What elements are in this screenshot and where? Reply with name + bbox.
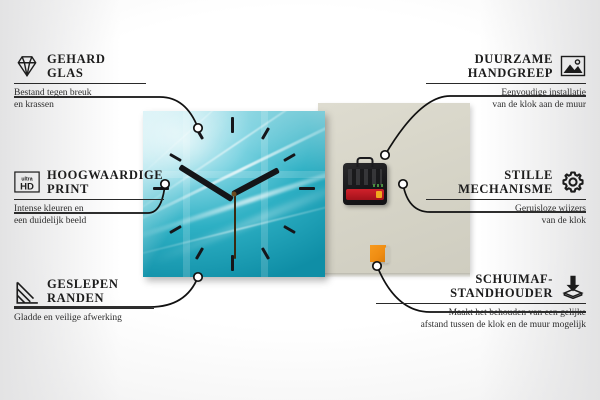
picture-frame-icon (560, 53, 586, 79)
callout-subtitle-line1: Bestand tegen breuk (14, 88, 146, 100)
clock-center-pin (232, 192, 237, 197)
callout-header: GEHARD GLAS (14, 52, 146, 80)
callout-header: STILLE MECHANISME (426, 168, 586, 196)
callout-divider (376, 303, 586, 304)
callout-schuimafstandhouder: SCHUIMAF- STANDHOUDER Maakt het behouden… (376, 272, 586, 331)
callout-header: ultra HD HOOGWAARDIGE PRINT (14, 168, 164, 196)
callout-title: GEHARD GLAS (47, 52, 105, 80)
callout-divider (426, 199, 586, 200)
callout-title: HOOGWAARDIGE PRINT (47, 168, 163, 196)
callout-subtitle-line2: een duidelijk beeld (14, 216, 164, 228)
callout-subtitle-line2: en krassen (14, 100, 146, 112)
callout-subtitle-line1: Eenvoudige installatie (426, 88, 586, 100)
battery (346, 189, 384, 200)
callout-divider (14, 83, 146, 84)
callout-title: GESLEPEN RANDEN (47, 277, 119, 305)
callout-title: STILLE MECHANISME (458, 168, 553, 196)
press-down-arrow-icon (560, 273, 586, 299)
mechanism-housing (348, 169, 382, 185)
callout-hoogwaardige-print: ultra HD HOOGWAARDIGE PRINT Intense kleu… (14, 168, 164, 227)
callout-divider (426, 83, 586, 84)
callout-geslepen-randen: GESLEPEN RANDEN Gladde en veilige afwerk… (14, 277, 154, 325)
callout-subtitle-line2: van de klok (426, 216, 586, 228)
foam-spacer-pad (370, 245, 386, 262)
clock-mechanism (343, 163, 387, 205)
glass-seam (143, 171, 325, 178)
callout-header: GESLEPEN RANDEN (14, 277, 154, 305)
callout-subtitle-line2: van de klok aan de muur (426, 100, 586, 112)
callout-subtitle-line1: Maakt het behouden van een gelijke (376, 308, 586, 320)
mechanism-marking (373, 184, 383, 187)
callout-header: DUURZAME HANDGREEP (426, 52, 586, 80)
infographic-canvas: GEHARD GLAS Bestand tegen breuk en krass… (0, 0, 600, 400)
gear-icon (560, 169, 586, 195)
callout-divider (14, 199, 164, 200)
clock-second-hand (234, 195, 236, 259)
clock-tick (231, 117, 234, 133)
diamond-icon (14, 53, 40, 79)
callout-subtitle-line2: afstand tussen de klok en de muur mogeli… (376, 320, 586, 332)
diagonal-lines-icon (14, 278, 40, 304)
glass-seam (183, 111, 190, 277)
callout-subtitle-line1: Gladde en veilige afwerking (14, 313, 154, 325)
callout-duurzame-handgreep: DUURZAME HANDGREEP Eenvoudige installati… (426, 52, 586, 111)
callout-divider (14, 308, 154, 309)
ultra-hd-icon: ultra HD (14, 169, 40, 195)
mechanism-hanger (357, 157, 374, 167)
callout-title: SCHUIMAF- STANDHOUDER (450, 272, 553, 300)
wall-clock-face (143, 111, 325, 277)
clock-tick (299, 187, 315, 190)
callout-subtitle-line1: Intense kleuren en (14, 204, 164, 216)
callout-subtitle-line1: Geruisloze wijzers (426, 204, 586, 216)
callout-stille-mechanisme: STILLE MECHANISME Geruisloze wijzers van… (426, 168, 586, 227)
callout-header: SCHUIMAF- STANDHOUDER (376, 272, 586, 300)
callout-gehard-glas: GEHARD GLAS Bestand tegen breuk en krass… (14, 52, 146, 111)
svg-text:HD: HD (20, 181, 34, 192)
product-photo (140, 95, 470, 280)
callout-title: DUURZAME HANDGREEP (468, 52, 553, 80)
